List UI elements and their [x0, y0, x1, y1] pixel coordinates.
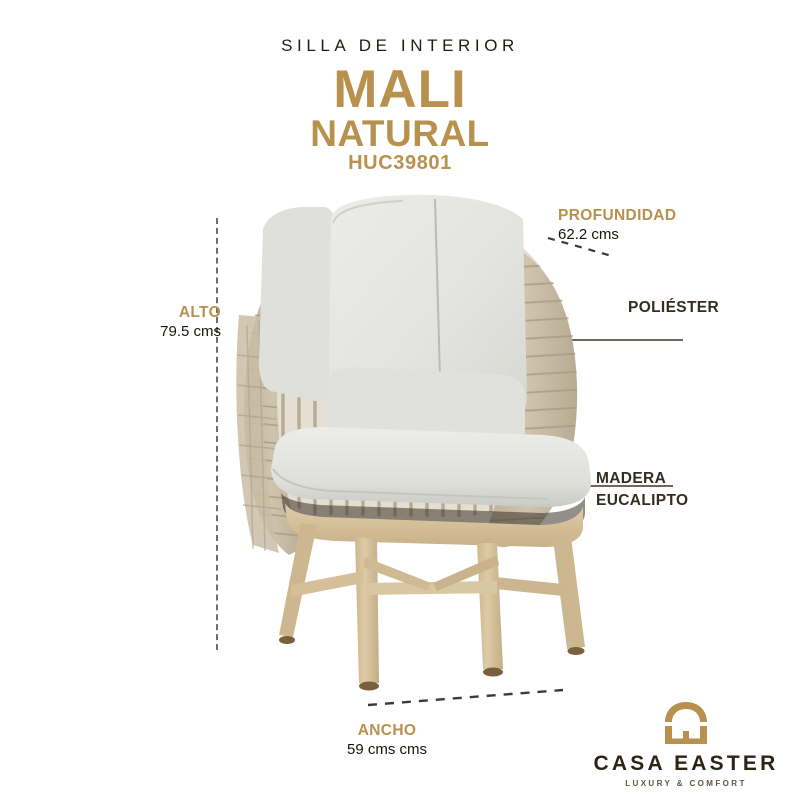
- product-category: SILLA DE INTERIOR: [0, 36, 800, 56]
- callout-profundidad-value: 62.2 cms: [558, 225, 758, 245]
- callout-ancho: ANCHO 59 cms cms: [282, 721, 492, 760]
- product-model-name: MALI: [0, 66, 800, 114]
- brand-name: CASA EASTER: [586, 753, 786, 775]
- callout-ancho-value: 59 cms cms: [282, 740, 492, 760]
- callout-profundidad: PROFUNDIDAD 62.2 cms: [558, 206, 758, 245]
- brand-tagline: LUXURY & COMFORT: [586, 778, 786, 790]
- callout-madera-title-2: EUCALIPTO: [596, 490, 786, 512]
- callout-poliester-title: POLIÉSTER: [628, 298, 800, 317]
- callout-profundidad-title: PROFUNDIDAD: [558, 206, 758, 225]
- brand-logo: CASA EASTER LUXURY & COMFORT: [586, 700, 786, 790]
- product-spec-sheet: SILLA DE INTERIOR MALI NATURAL HUC39801: [0, 0, 800, 800]
- callout-alto: ALTO 79.5 cms: [86, 303, 221, 342]
- callout-madera-title: MADERA: [596, 468, 786, 490]
- product-image-chair: [205, 185, 625, 695]
- product-sku: HUC39801: [0, 153, 800, 173]
- callout-ancho-title: ANCHO: [282, 721, 492, 740]
- callout-alto-title: ALTO: [86, 303, 221, 322]
- header: SILLA DE INTERIOR MALI NATURAL HUC39801: [0, 0, 800, 173]
- house-arch-icon: [659, 700, 713, 746]
- product-finish-name: NATURAL: [0, 116, 800, 152]
- wood-legs: [279, 523, 585, 691]
- callout-madera: MADERA EUCALIPTO: [596, 468, 786, 512]
- seat-cushion: [271, 427, 591, 507]
- callout-poliester: POLIÉSTER: [628, 298, 800, 317]
- callout-alto-value: 79.5 cms: [86, 322, 221, 342]
